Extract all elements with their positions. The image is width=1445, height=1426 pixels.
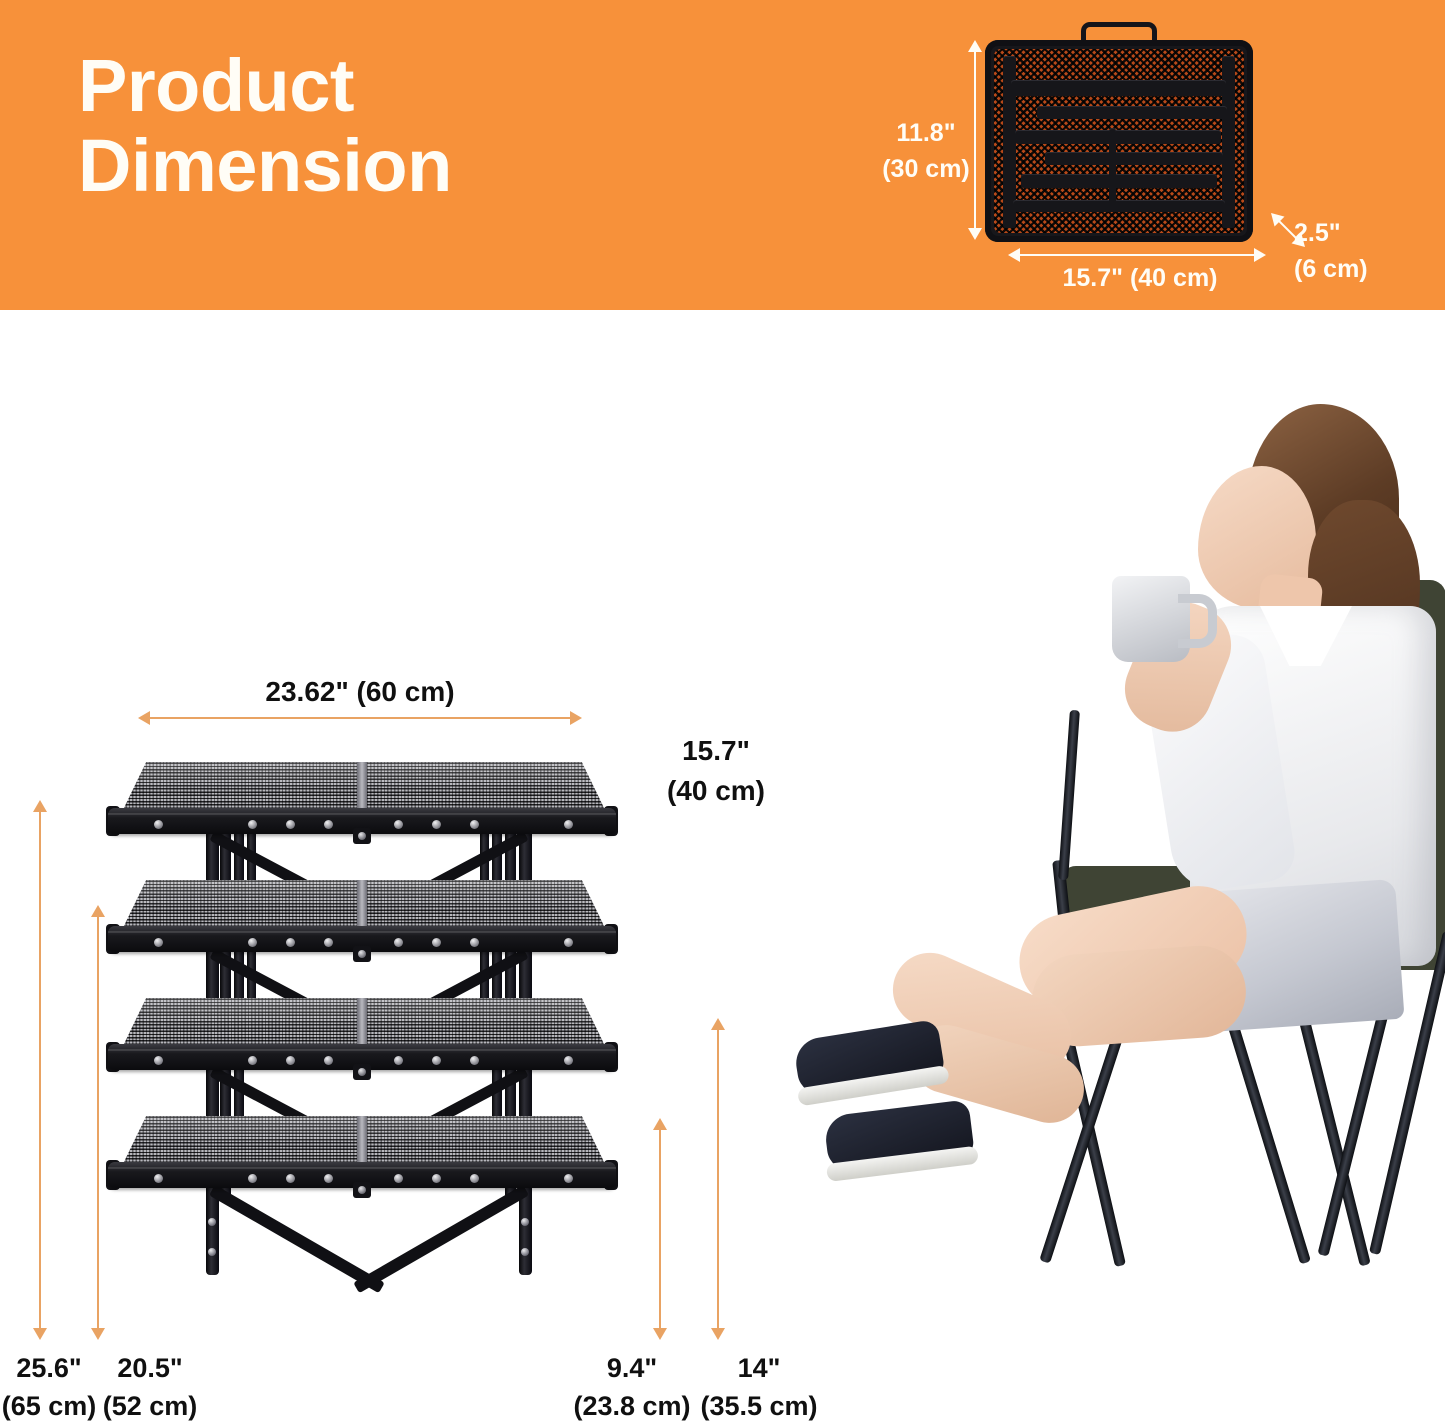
dimension-arrow-height-25 — [32, 800, 48, 1340]
dimension-label-height-25-inch: 25.6" — [0, 1348, 98, 1388]
frame-bar — [1011, 80, 1226, 96]
dimension-arrow-height-14 — [710, 1018, 726, 1340]
dimension-label-folded-width: 15.7" (40 cm) — [1000, 264, 1280, 293]
mug-handle — [1178, 594, 1217, 648]
frame-bar — [1013, 200, 1225, 212]
adjust-hole — [208, 1218, 216, 1226]
chair-frame-bar — [1058, 710, 1080, 880]
dimension-label-folded-thickness: 2.5" (6 cm) — [1294, 215, 1434, 287]
tabletop-tier — [108, 1116, 616, 1202]
tabletop-tier — [108, 762, 616, 848]
dimension-label-height-25-cm: (65 cm) — [0, 1386, 98, 1426]
page-title: Product Dimension — [78, 46, 698, 206]
dimension-label-height-20-inch: 20.5" — [98, 1348, 202, 1388]
adjust-hole — [208, 1248, 216, 1256]
frame-bar — [1037, 106, 1227, 119]
adjust-hole — [521, 1248, 529, 1256]
frame-bar — [1015, 130, 1221, 144]
dimension-arrow-folded-width — [1008, 248, 1266, 262]
folded-product-image — [985, 24, 1253, 242]
lifestyle-photo — [760, 380, 1445, 1320]
dimension-label-height-9-cm: (23.8 cm) — [570, 1386, 694, 1426]
folded-product-body — [985, 40, 1253, 242]
dimension-arrow-tabletop-width — [138, 710, 582, 726]
dimension-label-height-9-inch: 9.4" — [570, 1348, 694, 1388]
frame-bar — [1109, 128, 1116, 206]
tabletop-tier — [108, 998, 616, 1084]
dimension-arrow-height-20 — [90, 905, 106, 1340]
adjust-hole — [521, 1218, 529, 1226]
dimension-label-folded-height: 11.8" (30 cm) — [866, 115, 986, 187]
dimension-arrow-height-9 — [652, 1118, 668, 1340]
dimension-label-height-14-cm: (35.5 cm) — [700, 1386, 818, 1426]
dimension-label-height-20-cm: (52 cm) — [98, 1386, 202, 1426]
tabletop-tier — [108, 880, 616, 966]
header-banner: Product Dimension 11.8" (30 cm) 15.7" (4… — [0, 0, 1445, 310]
dimension-label-height-14-inch: 14" — [700, 1348, 818, 1388]
frame-bar — [1045, 152, 1223, 165]
dimension-label-tabletop-width: 23.62" (60 cm) — [150, 676, 570, 708]
frame-bar — [1021, 174, 1217, 188]
